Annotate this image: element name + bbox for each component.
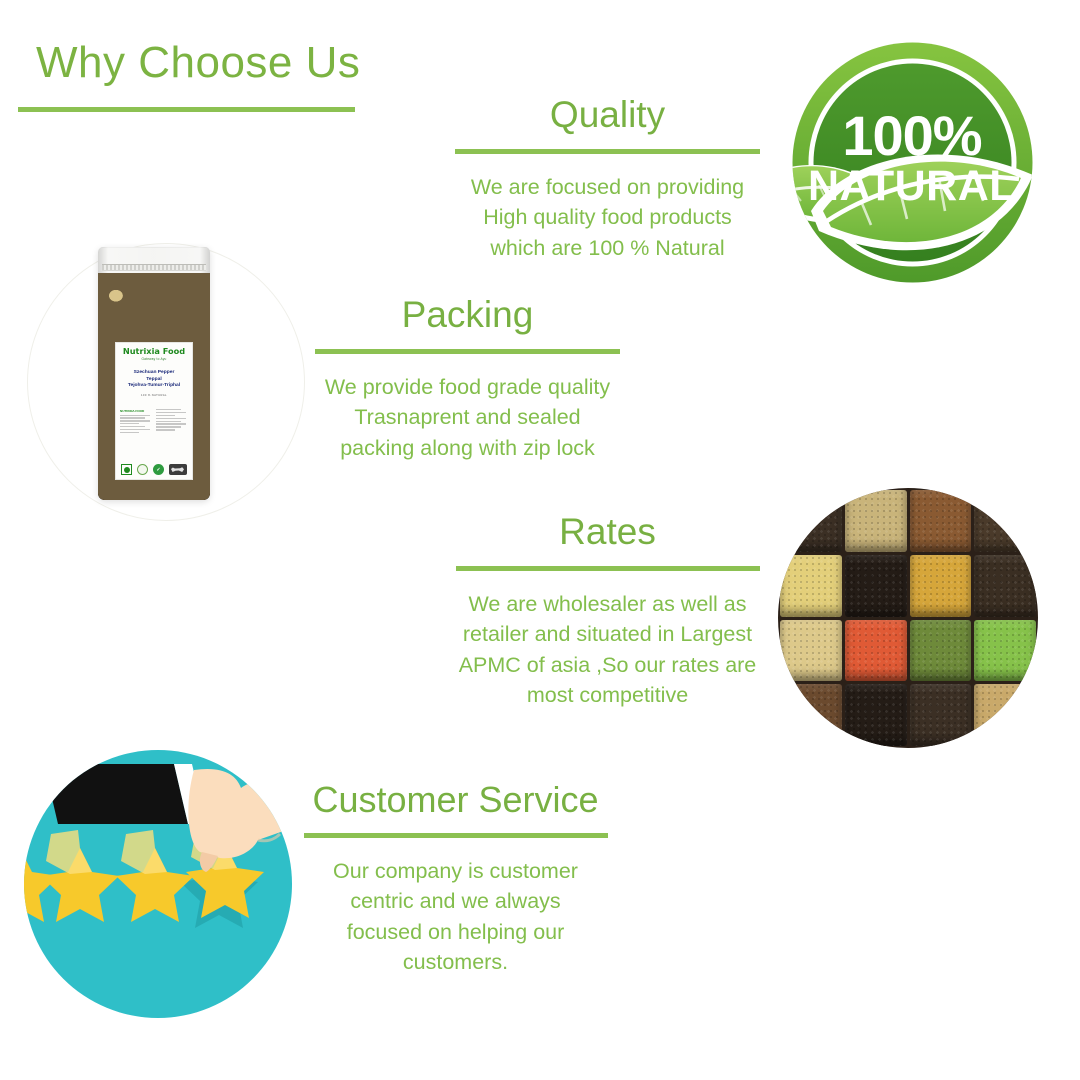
animal-logo-icon [169, 464, 187, 475]
feature-divider-quality [455, 149, 760, 154]
packet-text-line [156, 418, 186, 419]
product-packet: Nutrixia Food Gateway to Ayu Szechuan Pe… [98, 247, 210, 500]
packet-text-line [156, 429, 175, 430]
packet-text-line [156, 421, 181, 422]
packet-info-column-left: NUTRIXIA FOOD [120, 409, 152, 455]
packet-text-line [120, 417, 145, 418]
feature-block-packing: Packing We provide food grade quality Tr… [315, 296, 620, 463]
packet-product-name: Szechuan Pepper Teppal Tejohva-Tumur-Tri… [116, 370, 192, 389]
spice-bin [780, 684, 842, 746]
packet-zip-lock [102, 264, 206, 271]
infographic-page: Why Choose Us Quality We are focused on … [0, 0, 1080, 1080]
feature-heading-rates: Rates [455, 513, 760, 552]
spice-bin [974, 684, 1036, 746]
packet-label: Nutrixia Food Gateway to Ayu Szechuan Pe… [115, 342, 193, 480]
feature-block-customer-service: Customer Service Our company is customer… [303, 781, 608, 978]
spice-bins [778, 488, 1038, 748]
packet-text-line [120, 426, 145, 427]
packet-text-line [156, 426, 181, 427]
natural-badge-percent: 100% [842, 104, 981, 167]
packet-text-line [120, 415, 150, 416]
packet-tagline: Gateway to Ayu [116, 357, 192, 361]
feature-divider-packing [315, 349, 620, 354]
packet-text-line [120, 432, 139, 433]
spice-bin [845, 555, 907, 617]
sleeve [44, 764, 188, 824]
feature-body-quality: We are focused on providing High quality… [455, 172, 760, 264]
packet-text-line [156, 415, 175, 416]
feature-block-rates: Rates We are wholesaler as well as retai… [455, 513, 760, 711]
feature-heading-packing: Packing [315, 296, 620, 335]
packet-info-column-right [156, 409, 188, 455]
spice-bin [780, 620, 842, 682]
packet-panel-title: NUTRIXIA FOOD [120, 409, 152, 413]
feature-divider-rates [456, 566, 760, 571]
product-packet-image: Nutrixia Food Gateway to Ayu Szechuan Pe… [22, 238, 312, 528]
natural-badge-label: NATURAL [808, 162, 1016, 210]
page-title: Why Choose Us [36, 38, 360, 88]
fssai-icon: ✓ [153, 464, 164, 475]
spice-bin [845, 620, 907, 682]
feature-heading-customer-service: Customer Service [303, 781, 608, 819]
seal-icon [137, 464, 148, 475]
spice-bin [845, 490, 907, 552]
spice-bin [974, 490, 1036, 552]
packet-natural-note: 100 % NATURAL [116, 394, 192, 397]
natural-badge-icon: 100% NATURAL [775, 25, 1050, 300]
packet-text-line [156, 409, 181, 410]
packet-text-line [156, 423, 186, 424]
feature-body-rates: We are wholesaler as well as retailer an… [455, 589, 760, 711]
feature-divider-customer-service [304, 833, 608, 838]
spice-bin [780, 490, 842, 552]
spice-bin [910, 490, 972, 552]
packet-certification-badges: ✓ [121, 464, 187, 475]
packet-text-line [156, 412, 186, 413]
spice-bin [910, 555, 972, 617]
spice-bin [974, 620, 1036, 682]
spice-bin [845, 684, 907, 746]
feature-body-packing: We provide food grade quality Trasnapren… [315, 372, 620, 464]
spice-bin [910, 684, 972, 746]
veg-mark-icon [121, 464, 132, 475]
spice-bin [780, 555, 842, 617]
packet-text-line [120, 423, 139, 424]
spice-bin [910, 620, 972, 682]
packet-text-line [120, 429, 150, 430]
spice-market-photo [778, 488, 1038, 748]
feature-heading-quality: Quality [455, 96, 760, 135]
feature-body-customer-service: Our company is customer centric and we a… [303, 856, 608, 978]
spice-bin [974, 555, 1036, 617]
packet-text-line [120, 420, 150, 421]
page-title-underline [18, 107, 355, 112]
five-star-rating-hand-icon [22, 748, 294, 1020]
packet-info-columns: NUTRIXIA FOOD [120, 409, 188, 455]
feature-block-quality: Quality We are focused on providing High… [455, 96, 760, 263]
packet-brand-name: Nutrixia Food [116, 347, 192, 355]
